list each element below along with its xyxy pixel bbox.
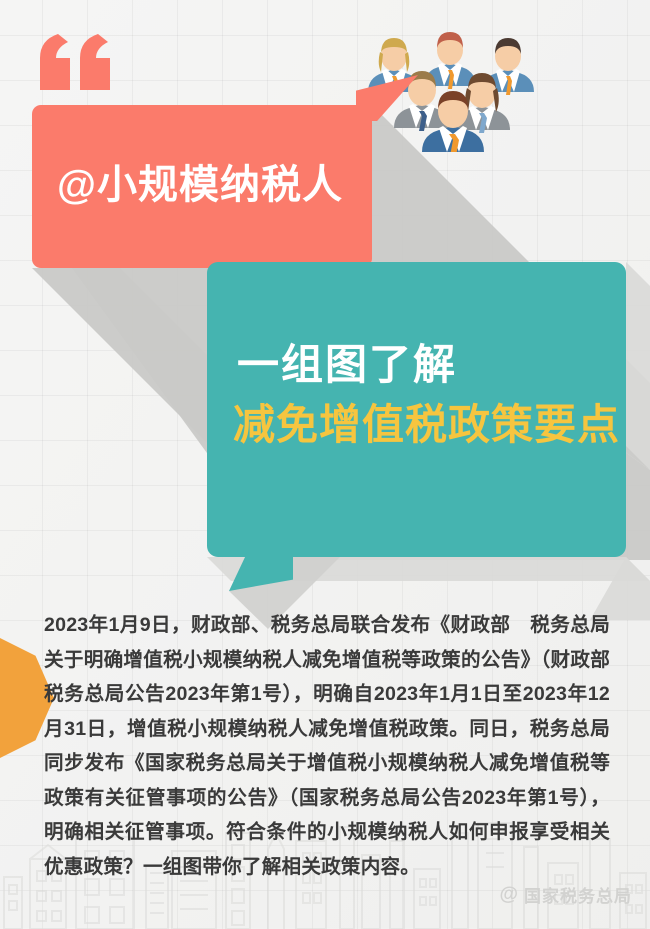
quotation-mark-icon: [36, 32, 116, 90]
headline-primary: 一组图了解: [237, 342, 457, 388]
teal-bubble-tail: [229, 553, 293, 591]
audience-label: @小规模纳税人: [57, 163, 343, 207]
headline-secondary: 减免增值税政策要点: [233, 402, 620, 448]
infographic-poster: @小规模纳税人 一组图了解 减免增值税政策要点 2023年1月9日，财政部、税务…: [0, 0, 650, 929]
watermark-text: 国家税务总局: [524, 882, 632, 907]
teal-speech-bubble: 一组图了解 减免增值税政策要点: [207, 262, 626, 557]
coral-speech-bubble: @小规模纳税人: [32, 105, 372, 268]
watermark: @ 国家税务总局: [499, 882, 632, 907]
watermark-at-symbol: @: [499, 884, 519, 906]
body-paragraph: 2023年1月9日，财政部、税务总局联合发布《财政部 税务总局关于明确增值税小规…: [44, 608, 610, 884]
